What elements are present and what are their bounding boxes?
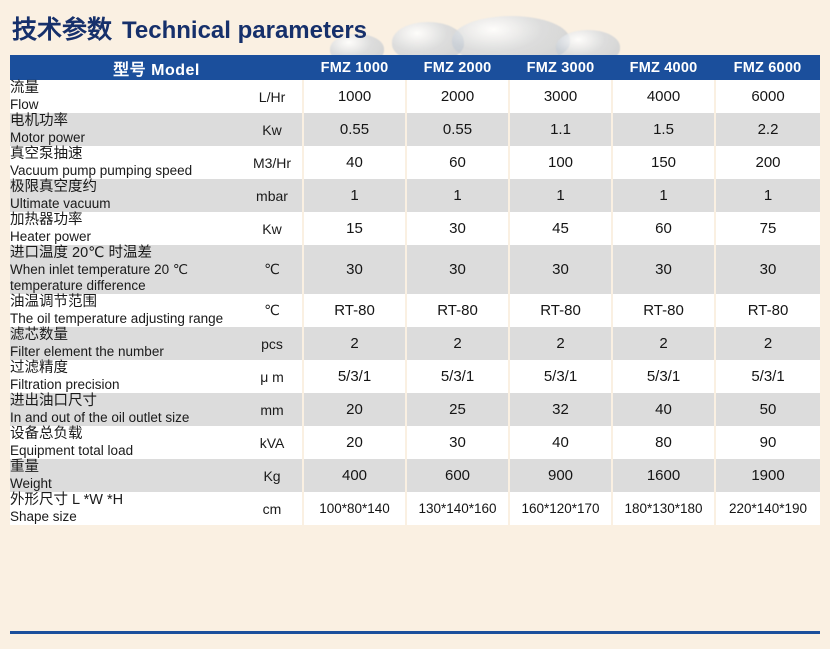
- row-label-en: Vacuum pump pumping speed: [10, 163, 242, 179]
- cell-value: 5/3/1: [612, 360, 715, 393]
- row-label-cn: 过滤精度: [10, 360, 242, 377]
- row-label: 电机功率Motor power: [10, 113, 242, 146]
- table-row: 进口温度 20℃ 时温差When inlet temperature 20 ℃t…: [10, 245, 820, 294]
- cell-value: 900: [509, 459, 612, 492]
- cell-value: 100: [509, 146, 612, 179]
- row-unit: μ m: [242, 360, 303, 393]
- row-unit: mbar: [242, 179, 303, 212]
- row-label: 滤芯数量Filter element the number: [10, 327, 242, 360]
- row-label-en: Weight: [10, 476, 242, 492]
- cell-value: 20: [303, 426, 406, 459]
- cell-value: 75: [715, 212, 820, 245]
- cell-value: 220*140*190: [715, 492, 820, 525]
- row-label-cn: 进口温度 20℃ 时温差: [10, 245, 242, 262]
- row-label-en: Shape size: [10, 509, 242, 525]
- model-header-cell: 型号 Model: [10, 55, 303, 80]
- table-row: 电机功率Motor powerKw0.550.551.11.52.2: [10, 113, 820, 146]
- cell-value: 60: [406, 146, 509, 179]
- row-label-cn: 设备总负载: [10, 426, 242, 443]
- cell-value: 20: [303, 393, 406, 426]
- cell-value: 2.2: [715, 113, 820, 146]
- bottom-divider: [10, 631, 820, 634]
- column-header-fmz-4000: FMZ 4000: [612, 55, 715, 80]
- row-label-en: Motor power: [10, 130, 242, 146]
- cell-value: 30: [406, 426, 509, 459]
- column-header-fmz-1000: FMZ 1000: [303, 55, 406, 80]
- column-header-fmz-3000: FMZ 3000: [509, 55, 612, 80]
- cell-value: 30: [509, 245, 612, 294]
- technical-parameters-table: 型号 Model FMZ 1000 FMZ 2000 FMZ 3000 FMZ …: [10, 55, 820, 525]
- row-label: 进出油口尺寸In and out of the oil outlet size: [10, 393, 242, 426]
- row-label-cn: 进出油口尺寸: [10, 393, 242, 410]
- cell-value: RT-80: [612, 294, 715, 327]
- row-label: 极限真空度约Ultimate vacuum: [10, 179, 242, 212]
- cell-value: 1.5: [612, 113, 715, 146]
- cell-value: 1: [303, 179, 406, 212]
- cell-value: 25: [406, 393, 509, 426]
- row-unit: L/Hr: [242, 80, 303, 113]
- cell-value: 1: [509, 179, 612, 212]
- cell-value: RT-80: [406, 294, 509, 327]
- cell-value: 6000: [715, 80, 820, 113]
- cell-value: 30: [406, 212, 509, 245]
- table-row: 真空泵抽速Vacuum pump pumping speedM3/Hr40601…: [10, 146, 820, 179]
- row-label-cn: 重量: [10, 459, 242, 476]
- cell-value: 30: [303, 245, 406, 294]
- page-title-cn: 技术参数: [12, 16, 112, 44]
- cell-value: 5/3/1: [509, 360, 612, 393]
- table-row: 滤芯数量Filter element the numberpcs22222: [10, 327, 820, 360]
- row-label-cn: 加热器功率: [10, 212, 242, 229]
- cell-value: 5/3/1: [303, 360, 406, 393]
- row-label-en: The oil temperature adjusting range: [10, 311, 242, 327]
- row-unit: pcs: [242, 327, 303, 360]
- row-unit: ℃: [242, 294, 303, 327]
- cell-value: RT-80: [715, 294, 820, 327]
- cell-value: 5/3/1: [715, 360, 820, 393]
- column-header-fmz-6000: FMZ 6000: [715, 55, 820, 80]
- row-label-cn: 真空泵抽速: [10, 146, 242, 163]
- cell-value: 40: [303, 146, 406, 179]
- cell-value: 1: [612, 179, 715, 212]
- table-row: 加热器功率Heater powerKw1530456075: [10, 212, 820, 245]
- page-title: 技术参数Technical parameters: [12, 10, 367, 46]
- cell-value: 30: [715, 245, 820, 294]
- cell-value: 30: [406, 245, 509, 294]
- cell-value: 150: [612, 146, 715, 179]
- cell-value: 1: [715, 179, 820, 212]
- cell-value: 2: [715, 327, 820, 360]
- cell-value: 2: [406, 327, 509, 360]
- table-row: 过滤精度Filtration precisionμ m5/3/15/3/15/3…: [10, 360, 820, 393]
- cell-value: 40: [509, 426, 612, 459]
- row-label-cn: 极限真空度约: [10, 179, 242, 196]
- row-label-cn: 油温调节范围: [10, 294, 242, 311]
- table-row: 进出油口尺寸In and out of the oil outlet sizem…: [10, 393, 820, 426]
- row-label-cn: 电机功率: [10, 113, 242, 130]
- row-unit: kVA: [242, 426, 303, 459]
- table-row: 极限真空度约Ultimate vacuummbar11111: [10, 179, 820, 212]
- row-label-en: Equipment total load: [10, 443, 242, 459]
- cell-value: 160*120*170: [509, 492, 612, 525]
- cell-value: RT-80: [509, 294, 612, 327]
- row-unit: Kg: [242, 459, 303, 492]
- cell-value: 5/3/1: [406, 360, 509, 393]
- row-unit: Kw: [242, 113, 303, 146]
- page-title-en: Technical parameters: [122, 17, 367, 44]
- cell-value: 80: [612, 426, 715, 459]
- cell-value: 60: [612, 212, 715, 245]
- cell-value: 2: [303, 327, 406, 360]
- cell-value: 2: [509, 327, 612, 360]
- cell-value: 100*80*140: [303, 492, 406, 525]
- cell-value: 0.55: [303, 113, 406, 146]
- row-unit: ℃: [242, 245, 303, 294]
- table-row: 流量FlowL/Hr10002000300040006000: [10, 80, 820, 113]
- cell-value: 0.55: [406, 113, 509, 146]
- row-unit: mm: [242, 393, 303, 426]
- row-label: 过滤精度Filtration precision: [10, 360, 242, 393]
- row-label: 真空泵抽速Vacuum pump pumping speed: [10, 146, 242, 179]
- table-row: 重量WeightKg40060090016001900: [10, 459, 820, 492]
- cell-value: 32: [509, 393, 612, 426]
- cell-value: 40: [612, 393, 715, 426]
- cell-value: 15: [303, 212, 406, 245]
- cell-value: 2000: [406, 80, 509, 113]
- cell-value: 1600: [612, 459, 715, 492]
- cell-value: 2: [612, 327, 715, 360]
- row-label: 油温调节范围The oil temperature adjusting rang…: [10, 294, 242, 327]
- row-label-en: In and out of the oil outlet size: [10, 410, 242, 426]
- row-label-en: Flow: [10, 97, 242, 113]
- cell-value: RT-80: [303, 294, 406, 327]
- cell-value: 50: [715, 393, 820, 426]
- row-label-en: When inlet temperature 20 ℃: [10, 262, 242, 278]
- row-label-en: Filter element the number: [10, 344, 242, 360]
- cell-value: 4000: [612, 80, 715, 113]
- row-label-cn: 外形尺寸 L *W *H: [10, 492, 242, 509]
- row-label-en: Heater power: [10, 229, 242, 245]
- row-label-en: Ultimate vacuum: [10, 196, 242, 212]
- cell-value: 400: [303, 459, 406, 492]
- row-label-cn: 流量: [10, 80, 242, 97]
- row-label: 重量Weight: [10, 459, 242, 492]
- table-row: 油温调节范围The oil temperature adjusting rang…: [10, 294, 820, 327]
- table-header-row: 型号 Model FMZ 1000 FMZ 2000 FMZ 3000 FMZ …: [10, 55, 820, 80]
- row-unit: Kw: [242, 212, 303, 245]
- cell-value: 45: [509, 212, 612, 245]
- row-label: 流量Flow: [10, 80, 242, 113]
- cell-value: 200: [715, 146, 820, 179]
- row-label: 进口温度 20℃ 时温差When inlet temperature 20 ℃t…: [10, 245, 242, 294]
- cell-value: 600: [406, 459, 509, 492]
- table-row: 外形尺寸 L *W *HShape sizecm100*80*140130*14…: [10, 492, 820, 525]
- cell-value: 1.1: [509, 113, 612, 146]
- column-header-fmz-2000: FMZ 2000: [406, 55, 509, 80]
- row-unit: M3/Hr: [242, 146, 303, 179]
- cell-value: 90: [715, 426, 820, 459]
- row-label: 外形尺寸 L *W *HShape size: [10, 492, 242, 525]
- row-label-en-line2: temperature difference: [10, 278, 242, 294]
- cell-value: 3000: [509, 80, 612, 113]
- cell-value: 130*140*160: [406, 492, 509, 525]
- cell-value: 180*130*180: [612, 492, 715, 525]
- row-label-en: Filtration precision: [10, 377, 242, 393]
- table-row: 设备总负载Equipment total loadkVA2030408090: [10, 426, 820, 459]
- row-label: 设备总负载Equipment total load: [10, 426, 242, 459]
- row-label-cn: 滤芯数量: [10, 327, 242, 344]
- cell-value: 1000: [303, 80, 406, 113]
- row-unit: cm: [242, 492, 303, 525]
- cell-value: 30: [612, 245, 715, 294]
- row-label: 加热器功率Heater power: [10, 212, 242, 245]
- cell-value: 1: [406, 179, 509, 212]
- cell-value: 1900: [715, 459, 820, 492]
